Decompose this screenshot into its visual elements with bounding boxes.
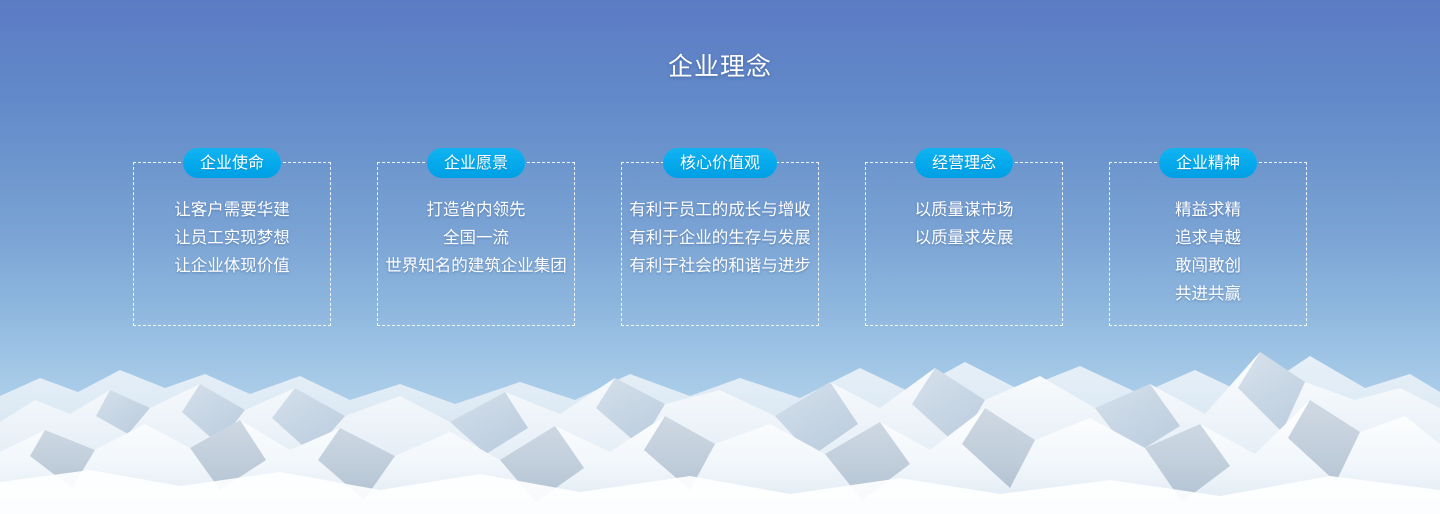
card-line: 让客户需要华建 — [134, 196, 330, 224]
card-line: 让员工实现梦想 — [134, 224, 330, 252]
card-line: 全国一流 — [378, 224, 574, 252]
card-body: 打造省内领先 全国一流 世界知名的建筑企业集团 — [378, 196, 574, 280]
card-line: 以质量谋市场 — [866, 196, 1062, 224]
culture-card[interactable]: 核心价值观 有利于员工的成长与增收 有利于企业的生存与发展 有利于社会的和谐与进… — [621, 162, 819, 326]
card-line: 打造省内领先 — [378, 196, 574, 224]
card-line: 追求卓越 — [1110, 224, 1306, 252]
culture-card[interactable]: 经营理念 以质量谋市场 以质量求发展 — [865, 162, 1063, 326]
card-body: 有利于员工的成长与增收 有利于企业的生存与发展 有利于社会的和谐与进步 — [622, 196, 818, 280]
culture-section: 企业理念 企业使命 让客户需要华建 让员工实现梦想 让企业体现价值 企业愿景 打… — [0, 0, 1440, 514]
card-line: 敢闯敢创 — [1110, 252, 1306, 280]
culture-card[interactable]: 企业精神 精益求精 追求卓越 敢闯敢创 共进共赢 — [1109, 162, 1307, 326]
card-body: 精益求精 追求卓越 敢闯敢创 共进共赢 — [1110, 196, 1306, 308]
culture-card[interactable]: 企业使命 让客户需要华建 让员工实现梦想 让企业体现价值 — [133, 162, 331, 326]
card-body: 以质量谋市场 以质量求发展 — [866, 196, 1062, 252]
card-line: 有利于社会的和谐与进步 — [622, 252, 818, 280]
card-line: 以质量求发展 — [866, 224, 1062, 252]
card-line: 让企业体现价值 — [134, 252, 330, 280]
page-title: 企业理念 — [0, 53, 1440, 81]
card-badge: 企业愿景 — [427, 148, 525, 178]
card-body: 让客户需要华建 让员工实现梦想 让企业体现价值 — [134, 196, 330, 280]
card-badge: 企业精神 — [1159, 148, 1257, 178]
culture-card-row: 企业使命 让客户需要华建 让员工实现梦想 让企业体现价值 企业愿景 打造省内领先… — [133, 162, 1307, 326]
card-badge: 经营理念 — [915, 148, 1013, 178]
card-line: 有利于员工的成长与增收 — [622, 196, 818, 224]
card-badge: 核心价值观 — [663, 148, 777, 178]
card-line: 共进共赢 — [1110, 280, 1306, 308]
card-badge: 企业使命 — [183, 148, 281, 178]
mountain-landscape-image — [0, 304, 1440, 514]
card-line: 精益求精 — [1110, 196, 1306, 224]
card-line: 有利于企业的生存与发展 — [622, 224, 818, 252]
card-line: 世界知名的建筑企业集团 — [378, 252, 574, 280]
culture-card[interactable]: 企业愿景 打造省内领先 全国一流 世界知名的建筑企业集团 — [377, 162, 575, 326]
